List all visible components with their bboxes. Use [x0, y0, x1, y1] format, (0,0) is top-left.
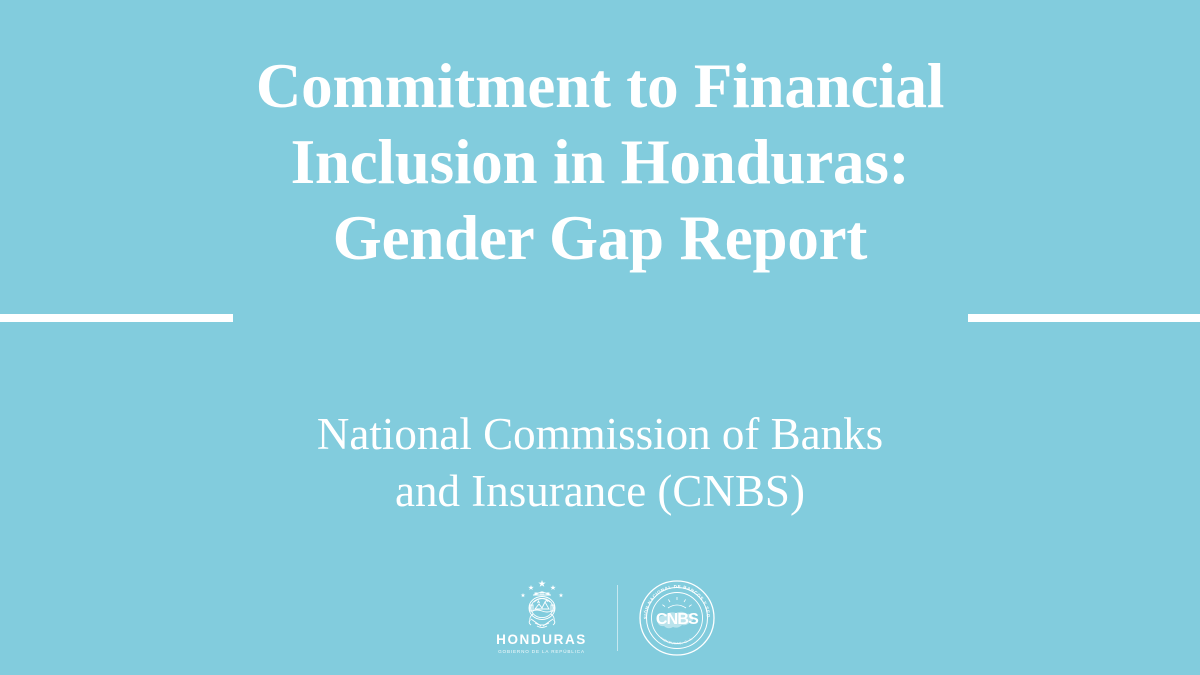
page-title: Commitment to Financial Inclusion in Hon… — [0, 48, 1200, 276]
honduras-wordmark: HONDURAS — [496, 633, 587, 647]
left-rule — [0, 314, 233, 322]
svg-text:HONDURAS, C. A.: HONDURAS, C. A. — [659, 636, 693, 645]
cnbs-seal-icon: COMISIÓN NACIONAL DE BANCOS Y SEGUROS HO… — [637, 578, 717, 658]
logo-separator — [617, 585, 618, 651]
title-slide: Commitment to Financial Inclusion in Hon… — [0, 0, 1200, 675]
honduras-coat-of-arms-icon — [511, 578, 573, 632]
subtitle-line-2: and Insurance (CNBS) — [0, 463, 1200, 520]
title-line-3: Gender Gap Report — [0, 200, 1200, 276]
right-rule — [968, 314, 1200, 322]
subtitle: National Commission of Banks and Insuran… — [0, 406, 1200, 520]
title-line-2: Inclusion in Honduras: — [0, 124, 1200, 200]
logo-strip: HONDURAS GOBIERNO DE LA REPÚBLICA COMISI… — [0, 575, 1200, 660]
title-line-1: Commitment to Financial — [0, 48, 1200, 124]
subtitle-line-1: National Commission of Banks — [0, 406, 1200, 463]
svg-text:CNBS: CNBS — [655, 611, 698, 628]
honduras-tagline: GOBIERNO DE LA REPÚBLICA — [498, 648, 585, 655]
honduras-government-logo: HONDURAS GOBIERNO DE LA REPÚBLICA — [484, 578, 600, 658]
